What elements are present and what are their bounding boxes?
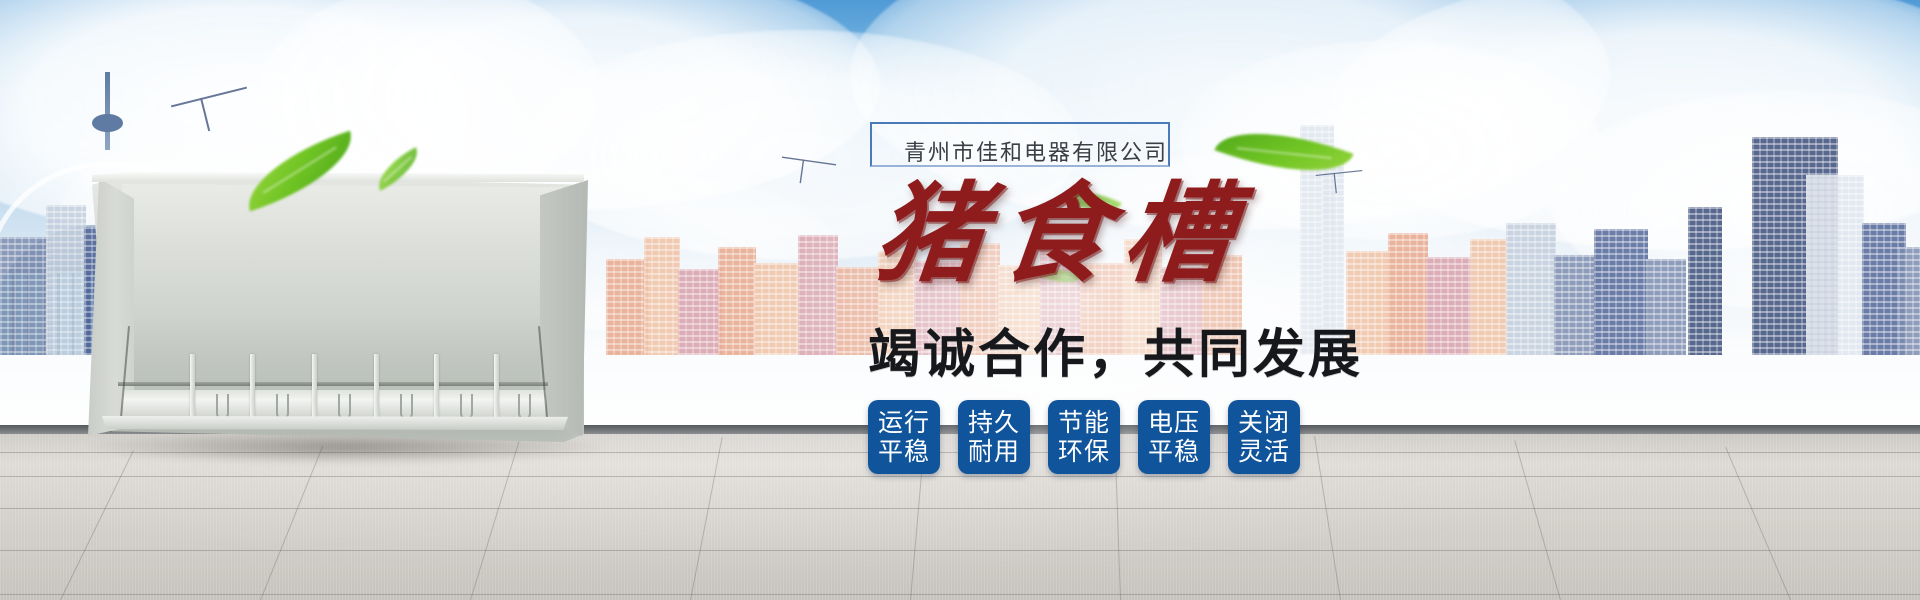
- building: [798, 235, 838, 355]
- badge-line-2: 环保: [1058, 437, 1110, 467]
- building: [606, 259, 648, 355]
- feature-badge-3[interactable]: 节能 环保: [1048, 400, 1120, 474]
- construction-crane: [782, 157, 836, 166]
- trough-bottom-rail: [102, 416, 568, 430]
- trough-inner-panel: [122, 184, 562, 334]
- badge-line-2: 耐用: [968, 437, 1020, 467]
- trough-floor: [122, 390, 546, 418]
- feature-badge-5[interactable]: 关闭 灵活: [1228, 400, 1300, 474]
- sub-title: 竭诚合作，共同发展: [868, 312, 1363, 387]
- trough-hook: [460, 394, 473, 420]
- building: [1646, 259, 1686, 355]
- trough-divider: [494, 354, 499, 420]
- trough-hook: [276, 394, 289, 420]
- badge-line-2: 平稳: [878, 437, 930, 467]
- company-name: 青州市佳和电器有限公司: [904, 135, 1168, 167]
- promo-banner: 青州市佳和电器有限公司 猪食槽 竭诚合作，共同发展 运行 平稳 持久 耐用 节能…: [0, 0, 1920, 600]
- high-rise-white: [1806, 175, 1864, 355]
- badge-line-2: 平稳: [1148, 437, 1200, 467]
- trough-hook: [400, 394, 413, 420]
- banner-copy: 青州市佳和电器有限公司 猪食槽 竭诚合作，共同发展 运行 平稳 持久 耐用 节能…: [860, 100, 1560, 570]
- trough-top-rim: [92, 172, 584, 182]
- badge-line-1: 运行: [878, 408, 930, 438]
- product-image-pig-feeder-trough: [78, 168, 598, 468]
- trough-right-side: [540, 180, 588, 436]
- badge-line-2: 灵活: [1238, 437, 1290, 467]
- trough-hook: [338, 394, 351, 420]
- feature-badge-list: 运行 平稳 持久 耐用 节能 环保 电压 平稳 关闭 灵活: [868, 400, 1300, 474]
- trough-divider: [374, 354, 379, 420]
- building: [0, 237, 52, 355]
- trough-hook: [216, 394, 229, 420]
- tv-tower-spire: [105, 72, 110, 150]
- building: [1898, 247, 1920, 355]
- trough-divider: [434, 354, 439, 420]
- building: [1594, 229, 1648, 355]
- feature-badge-4[interactable]: 电压 平稳: [1138, 400, 1210, 474]
- building: [1554, 255, 1596, 355]
- trough-divider: [190, 354, 195, 420]
- building: [678, 269, 722, 355]
- badge-line-1: 电压: [1148, 408, 1200, 438]
- badge-line-1: 持久: [968, 408, 1020, 438]
- trough-divider: [312, 354, 317, 420]
- trough-cross-bar: [118, 382, 548, 386]
- badge-line-1: 节能: [1058, 408, 1110, 438]
- trough-hook: [518, 394, 531, 420]
- page-title: 猪食槽: [870, 174, 1255, 295]
- trough-divider: [250, 354, 255, 420]
- construction-crane: [171, 87, 247, 108]
- building: [644, 237, 680, 355]
- building: [1688, 207, 1722, 355]
- building: [718, 247, 756, 355]
- building: [754, 263, 800, 355]
- feature-badge-2[interactable]: 持久 耐用: [958, 400, 1030, 474]
- feature-badge-1[interactable]: 运行 平稳: [868, 400, 940, 474]
- badge-line-1: 关闭: [1238, 408, 1290, 438]
